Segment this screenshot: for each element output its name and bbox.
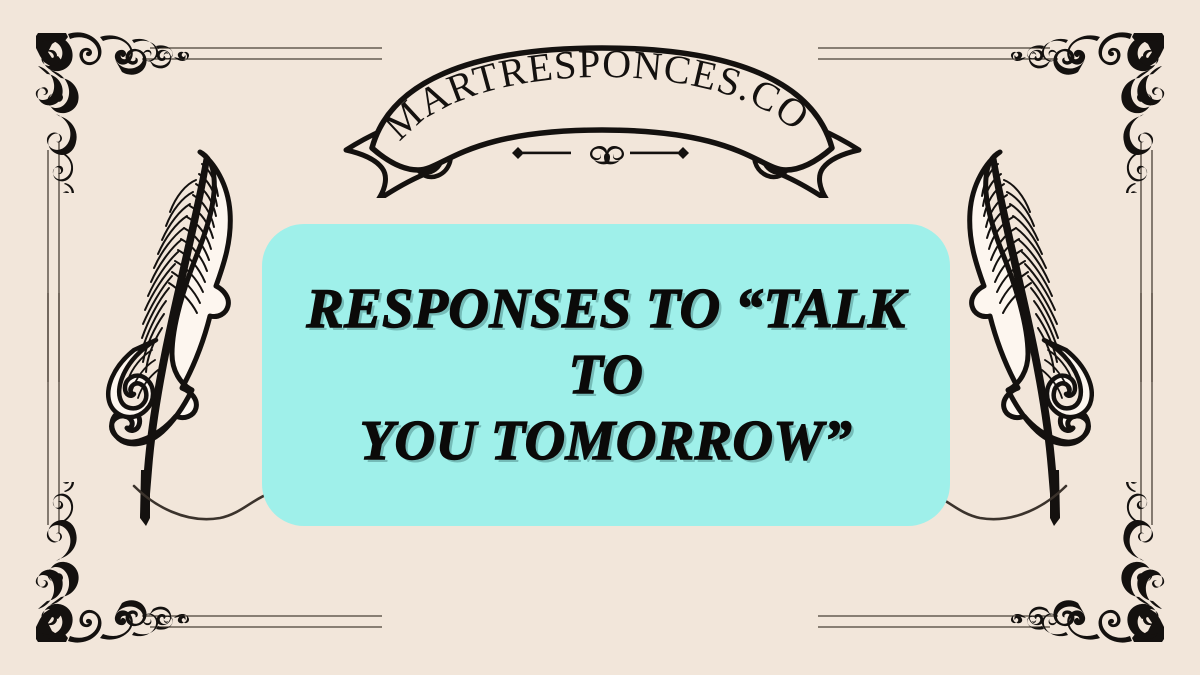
header-graphic: SMARTRESPONCES.COM RESP bbox=[0, 0, 1200, 675]
ornamental-divider bbox=[508, 140, 693, 166]
ornamental-divider-icon bbox=[508, 140, 693, 166]
ribbon-banner: SMARTRESPONCES.COM bbox=[330, 38, 875, 198]
ribbon-banner-icon: SMARTRESPONCES.COM bbox=[330, 38, 875, 198]
page-title: RESPONSES TO “TALK TO YOU TOMORROW” bbox=[262, 276, 950, 474]
title-card: RESPONSES TO “TALK TO YOU TOMORROW” bbox=[262, 224, 950, 526]
